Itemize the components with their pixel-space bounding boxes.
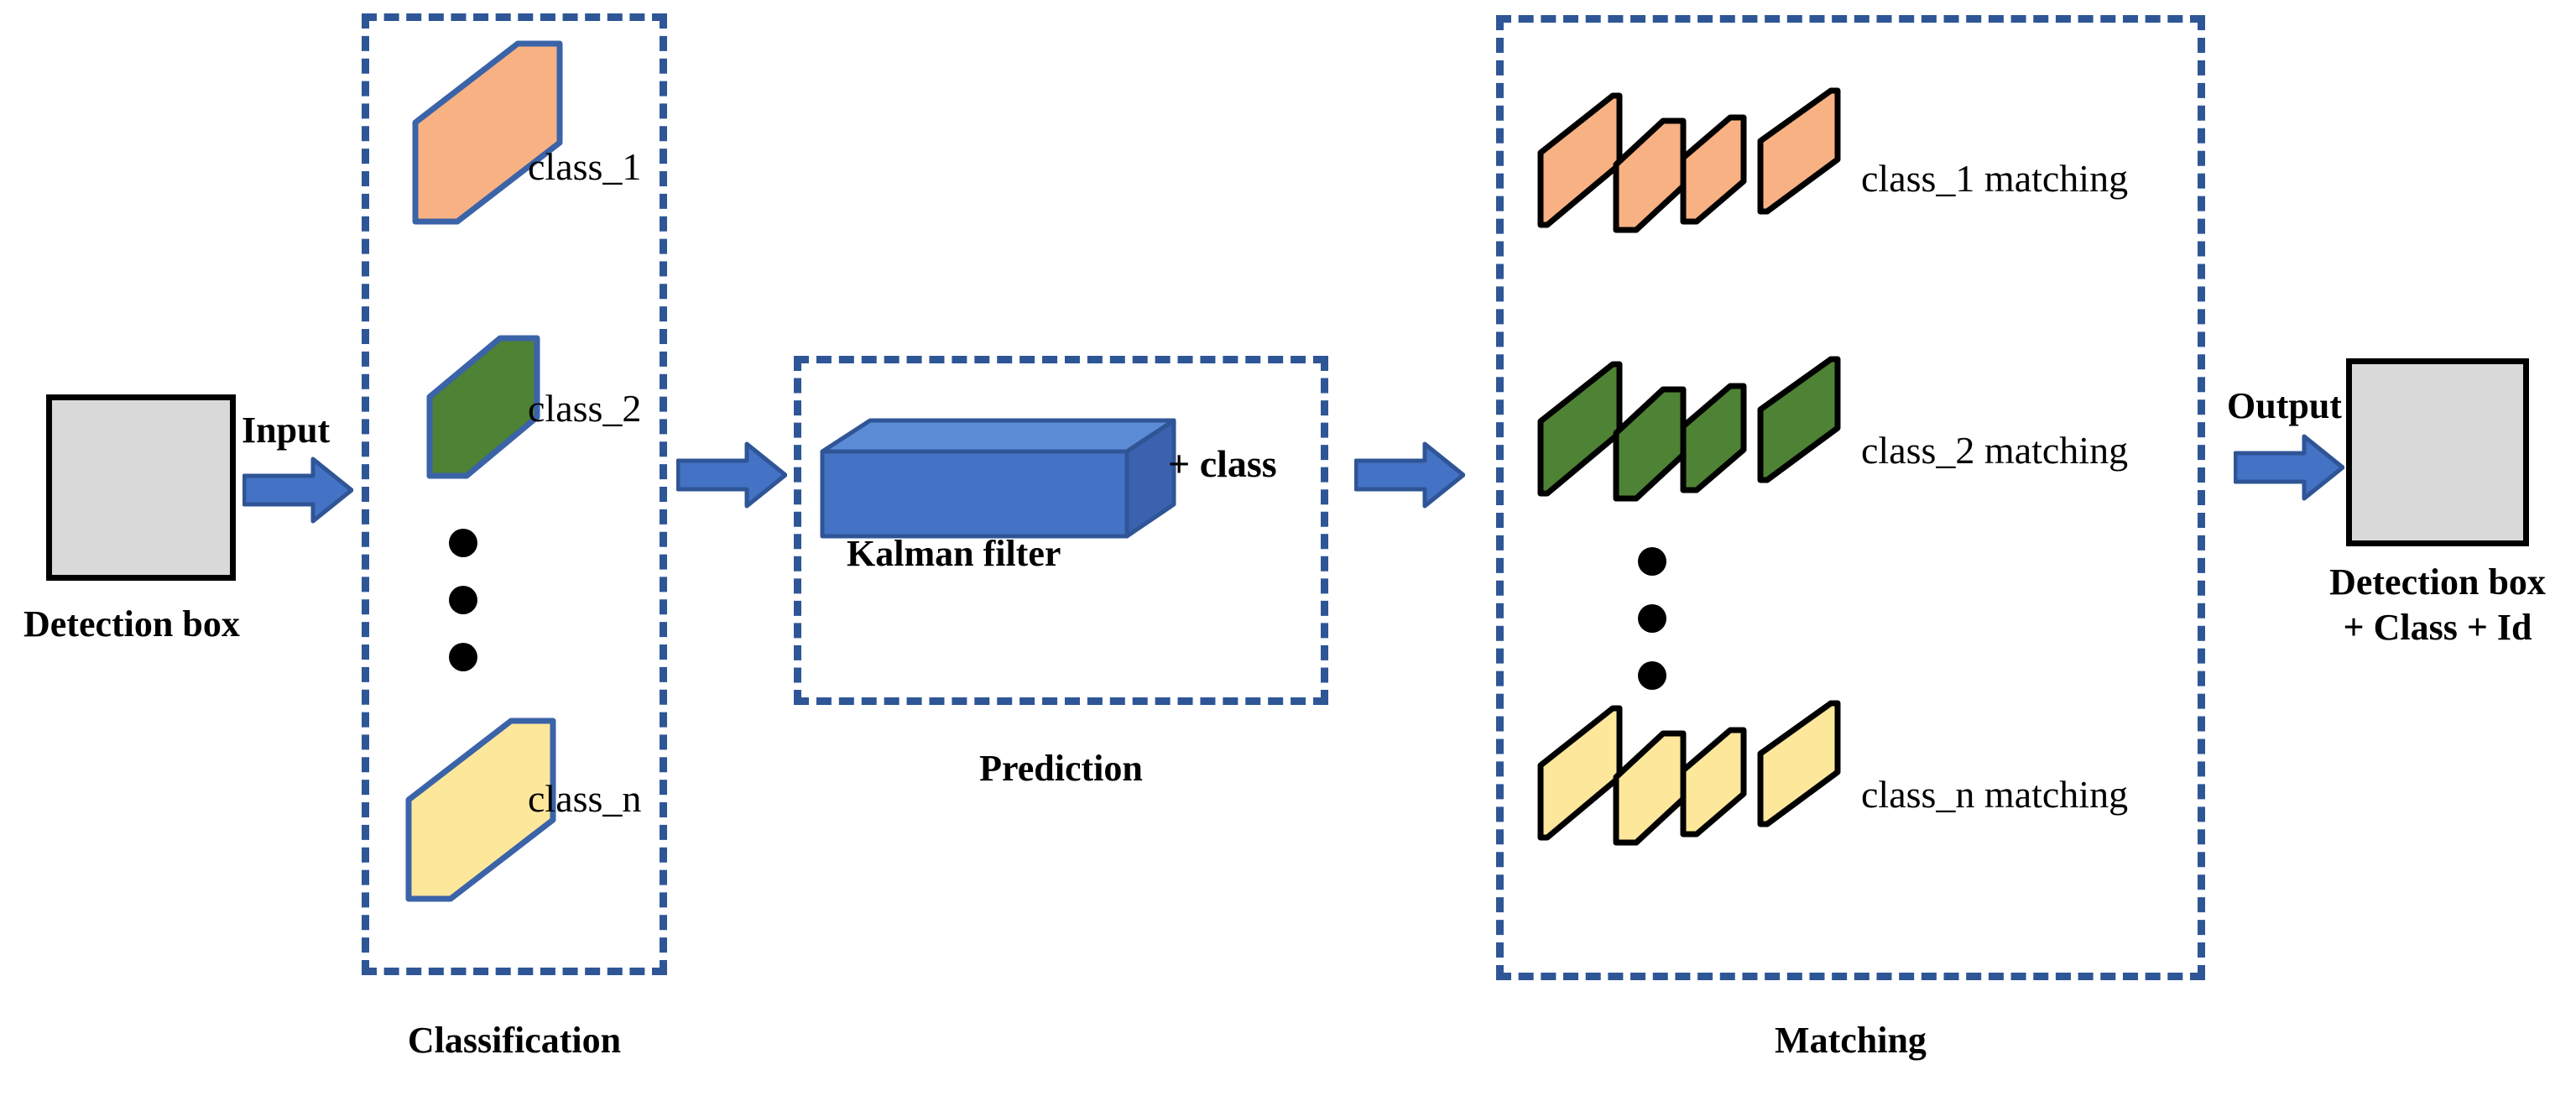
classification-vertical-ellipsis-icon: [449, 529, 491, 680]
matching-label-class-n: class_n matching: [1861, 772, 2128, 817]
matching-plate-group-class-1: [1536, 84, 1854, 252]
matching-plate-group-class-n: [1536, 697, 1854, 864]
prediction-to-matching-arrow: [1354, 441, 1465, 509]
classification-caption: Classification: [362, 1019, 667, 1062]
output-detection-box-label-line2: + Class + Id: [2299, 606, 2576, 649]
matching-label-class-2: class_2 matching: [1861, 428, 2128, 472]
classification-label-class-2: class_2: [528, 386, 641, 431]
matching-label-class-1: class_1 matching: [1861, 156, 2128, 201]
matching-caption: Matching: [1496, 1019, 2205, 1062]
matching-vertical-ellipsis-icon: [1638, 547, 1680, 698]
matching-plate-group-class-2: [1536, 352, 1854, 520]
output-arrow: [2234, 433, 2344, 502]
classification-label-class-n: class_n: [528, 776, 641, 821]
input-detection-box: [46, 394, 236, 581]
classification-plate-class-2: [426, 335, 540, 479]
output-detection-box-label-line1: Detection box: [2299, 561, 2576, 603]
prediction-plus-class-annotation: + class: [1168, 441, 1277, 486]
output-detection-box: [2346, 358, 2529, 546]
input-detection-box-label: Detection box: [23, 603, 240, 645]
input-arrow-label: Input: [242, 409, 330, 451]
classification-label-class-1: class_1: [528, 144, 641, 189]
diagram-canvas: Detection box Input class_1 class_2 clas…: [0, 0, 2576, 1096]
output-arrow-label: Output: [2227, 384, 2342, 427]
kalman-filter-cuboid-icon: [818, 416, 1179, 542]
classification-to-prediction-arrow: [676, 441, 787, 509]
kalman-filter-label: Kalman filter: [847, 532, 1061, 575]
classification-plate-class-1: [412, 40, 563, 225]
input-arrow: [242, 456, 353, 525]
prediction-caption: Prediction: [794, 747, 1328, 790]
